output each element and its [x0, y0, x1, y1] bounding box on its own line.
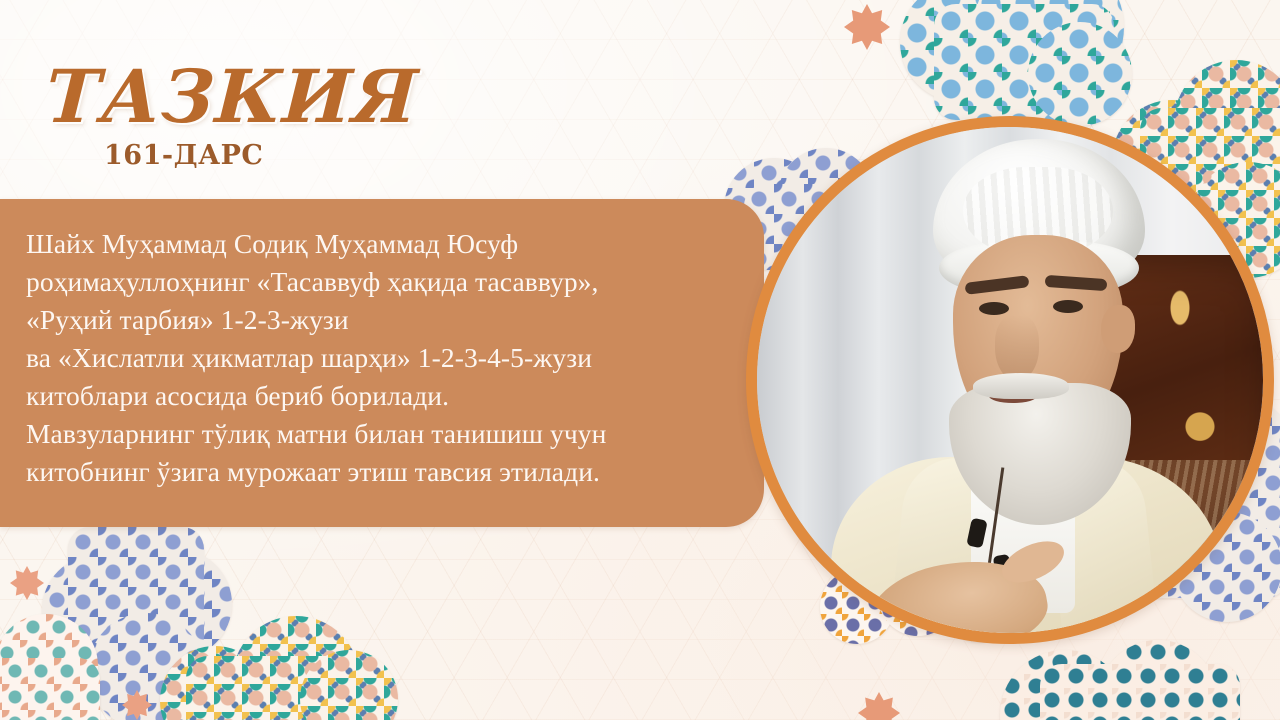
nose — [995, 315, 1039, 381]
eye-right — [1053, 300, 1083, 313]
star-accent-left — [10, 566, 44, 600]
headline-group: ТАЗКИЯ 161-ДАРС — [46, 62, 418, 171]
scholar-portrait-image — [757, 127, 1263, 633]
star-accent-top-left — [844, 4, 890, 50]
cloud-pattern-bottom-right — [1000, 640, 1280, 720]
slide-canvas: ТАЗКИЯ 161-ДАРС Шайх Муҳаммад Содиқ Муҳа… — [0, 0, 1280, 720]
page-title: ТАЗКИЯ — [44, 62, 420, 134]
description-line: роҳимаҳуллоҳнинг «Тасаввуф ҳақида тасавв… — [26, 263, 726, 301]
description-line: китоблари асосида бериб борилади. — [26, 377, 726, 415]
description-banner: Шайх Муҳаммад Содиқ Муҳаммад Юсуф роҳима… — [0, 199, 764, 527]
cloud-pattern-bottom-center — [160, 616, 400, 720]
star-accent-bottom-center — [858, 692, 900, 720]
cloud-pattern-bottom-farleft — [0, 614, 128, 720]
ear — [1101, 305, 1135, 353]
portrait-frame — [746, 116, 1274, 644]
description-line: Шайх Муҳаммад Содиқ Муҳаммад Юсуф — [26, 225, 726, 263]
description-line: китобнинг ўзига мурожаат этиш тавсия эти… — [26, 453, 726, 491]
description-line: ва «Хислатли ҳикматлар шарҳи» 1-2-3-4-5-… — [26, 339, 726, 377]
mustache — [973, 373, 1069, 399]
lesson-number-label: 161-ДАРС — [104, 140, 418, 171]
description-text: Шайх Муҳаммад Содиқ Муҳаммад Юсуф роҳима… — [26, 225, 726, 491]
description-line: Мавзуларнинг тўлиқ матни билан танишиш у… — [26, 415, 726, 453]
description-line: «Руҳий тарбия» 1-2-3-жузи — [26, 301, 726, 339]
eye-left — [979, 302, 1009, 315]
